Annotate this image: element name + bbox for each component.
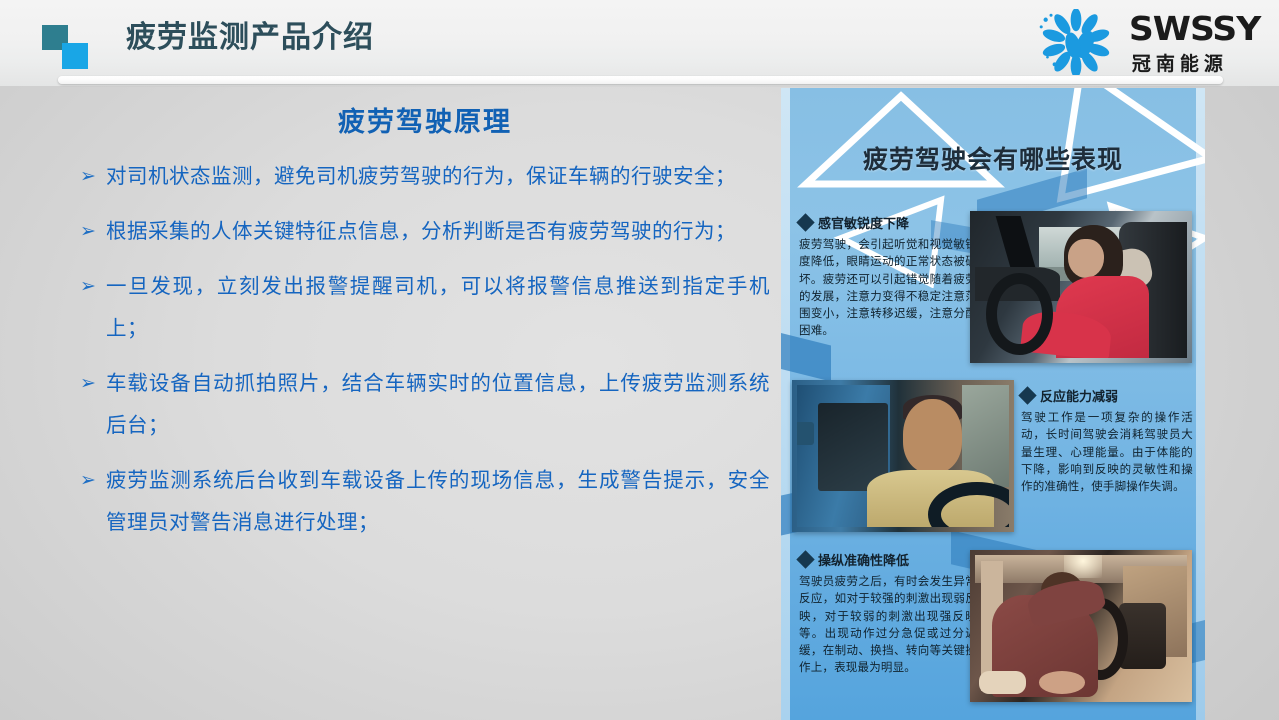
infographic-block-3: 操纵准确性降低 驾驶员疲劳之后，有时会发生异常反应，如对于较强的刺激出现弱反映，… xyxy=(799,550,977,677)
slide-header: 疲劳监测产品介绍 xyxy=(0,0,1279,86)
list-item: ➢ 一旦发现，立刻发出报警提醒司机，可以将报警信息推送到指定手机上； xyxy=(80,265,770,349)
list-item: ➢ 疲劳监测系统后台收到车载设备上传的现场信息，生成警告提示，安全管理员对警告消… xyxy=(80,459,770,543)
infographic-panel: 疲劳驾驶会有哪些表现 感官敏锐度下降 疲劳驾驶，会引起听觉和视觉敏锐度降低，眼睛… xyxy=(781,88,1205,720)
block-heading: 反应能力减弱 xyxy=(1040,386,1118,405)
tired-woman-driver-photo xyxy=(970,211,1192,363)
bullet-arrow-icon: ➢ xyxy=(80,155,106,197)
list-item: ➢ 根据采集的人体关键特征点信息，分析判断是否有疲劳驾驶的行为； xyxy=(80,210,770,252)
header-square-light-icon xyxy=(62,43,88,69)
infographic-block-2: 反应能力减弱 驾驶工作是一项复杂的操作活动，长时间驾驶会消耗驾驶员大量生理、心理… xyxy=(1021,386,1193,495)
list-item: ➢ 对司机状态监测，避免司机疲劳驾驶的行为，保证车辆的行驶安全； xyxy=(80,155,770,197)
bullet-arrow-icon: ➢ xyxy=(80,210,106,252)
diamond-bullet-icon xyxy=(796,213,814,231)
list-item: ➢ 车载设备自动抓拍照片，结合车辆实时的位置信息，上传疲劳监测系统后台； xyxy=(80,362,770,446)
block-body: 驾驶员疲劳之后，有时会发生异常反应，如对于较强的刺激出现弱反映，对于较弱的刺激出… xyxy=(799,573,977,677)
logo-chinese-name: 冠南能源 xyxy=(1132,49,1228,76)
block-body: 疲劳驾驶，会引起听觉和视觉敏锐度降低，眼睛运动的正常状态被破坏。疲劳还可以引起错… xyxy=(799,236,977,340)
tired-truck-driver-photo xyxy=(792,380,1014,532)
bullet-text: 疲劳监测系统后台收到车载设备上传的现场信息，生成警告提示，安全管理员对警告消息进… xyxy=(106,459,770,543)
bullet-text: 车载设备自动抓拍照片，结合车辆实时的位置信息，上传疲劳监测系统后台； xyxy=(106,362,770,446)
infographic-title: 疲劳驾驶会有哪些表现 xyxy=(781,140,1205,176)
block-heading: 感官敏锐度下降 xyxy=(818,213,909,232)
diamond-bullet-icon xyxy=(1018,386,1036,404)
company-logo: SWSSY 冠南能源 xyxy=(1030,8,1257,76)
block-heading-row: 感官敏锐度下降 xyxy=(799,213,977,232)
block-heading: 操纵准确性降低 xyxy=(818,550,909,569)
diamond-bullet-icon xyxy=(796,550,814,568)
bullet-text: 一旦发现，立刻发出报警提醒司机，可以将报警信息推送到指定手机上； xyxy=(106,265,770,349)
block-body: 驾驶工作是一项复杂的操作活动，长时间驾驶会消耗驾驶员大量生理、心理能量。由于体能… xyxy=(1021,409,1193,495)
block-heading-row: 操纵准确性降低 xyxy=(799,550,977,569)
bullet-text: 根据采集的人体关键特征点信息，分析判断是否有疲劳驾驶的行为； xyxy=(106,210,770,252)
water-droplet-burst-logo-icon xyxy=(1030,9,1122,75)
logo-text-group: SWSSY 冠南能源 xyxy=(1132,9,1257,76)
driver-asleep-on-wheel-photo xyxy=(970,550,1192,702)
logo-wordmark: SWSSY xyxy=(1129,9,1260,48)
header-divider-rule xyxy=(58,76,1223,84)
bullet-arrow-icon: ➢ xyxy=(80,265,106,307)
infographic-block-1: 感官敏锐度下降 疲劳驾驶，会引起听觉和视觉敏锐度降低，眼睛运动的正常状态被破坏。… xyxy=(799,213,977,340)
bullet-arrow-icon: ➢ xyxy=(80,459,106,501)
bullet-list: ➢ 对司机状态监测，避免司机疲劳驾驶的行为，保证车辆的行驶安全； ➢ 根据采集的… xyxy=(80,155,770,556)
header-title: 疲劳监测产品介绍 xyxy=(126,19,374,57)
slide-title: 疲劳驾驶原理 xyxy=(105,100,745,139)
bullet-arrow-icon: ➢ xyxy=(80,362,106,404)
block-heading-row: 反应能力减弱 xyxy=(1021,386,1193,405)
bullet-text: 对司机状态监测，避免司机疲劳驾驶的行为，保证车辆的行驶安全； xyxy=(106,155,770,197)
